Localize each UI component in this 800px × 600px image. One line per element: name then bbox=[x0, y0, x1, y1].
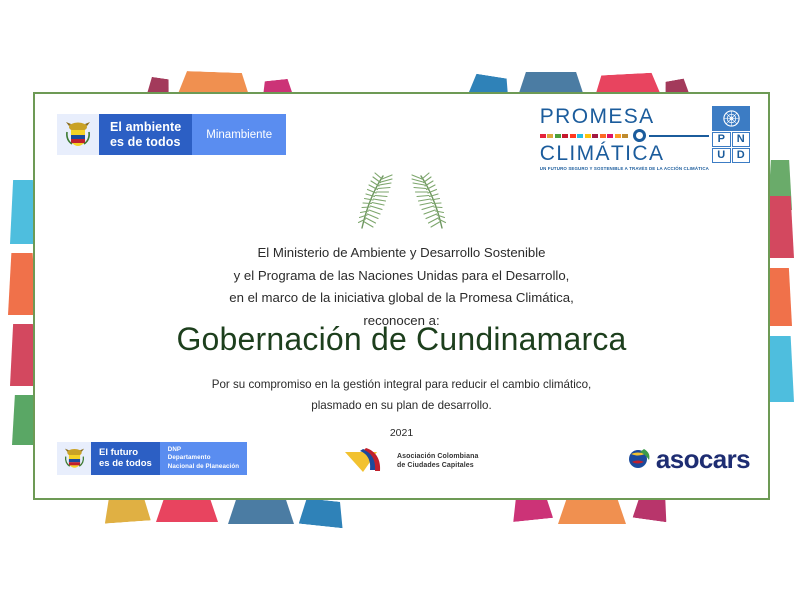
minambiente-logo: El ambiente es de todos Minambiente bbox=[57, 114, 286, 155]
reason-line: Por su compromiso en la gestión integral… bbox=[35, 375, 768, 396]
sdg-dash-8 bbox=[600, 134, 606, 138]
certificate-page: El ambiente es de todos Minambiente PROM… bbox=[0, 0, 800, 600]
asocars-wordmark: asocars bbox=[656, 446, 750, 472]
reason-line: plasmado en su plan de desarrollo. bbox=[35, 396, 768, 417]
intro-line: El Ministerio de Ambiente y Desarrollo S… bbox=[35, 242, 768, 265]
sdg-dash-3 bbox=[562, 134, 568, 138]
dnp-slogan-line2: es de todos bbox=[99, 459, 152, 470]
divider-line bbox=[649, 135, 709, 137]
dnp-entity: DNP Departamento Nacional de Planeación bbox=[160, 442, 247, 475]
minambiente-slogan-line1: El ambiente bbox=[110, 120, 181, 134]
intro-line: en el marco de la iniciativa global de l… bbox=[35, 287, 768, 310]
sdg-dash-1 bbox=[547, 134, 553, 138]
sdg-dash-6 bbox=[585, 134, 591, 138]
petal-bottom-2 bbox=[156, 500, 218, 522]
petal-right-1 bbox=[768, 160, 792, 210]
asocars-globe-icon bbox=[627, 446, 653, 472]
pnud-letter-n: N bbox=[732, 132, 751, 147]
intro-line: y el Programa de las Naciones Unidas par… bbox=[35, 265, 768, 288]
colombia-flag-swoosh-icon bbox=[343, 446, 393, 476]
pnud-letter-p: P bbox=[712, 132, 731, 147]
asocapitales-name-line1: Asociación Colombiana bbox=[397, 452, 478, 461]
petal-bottom-4 bbox=[299, 498, 345, 528]
petal-right-4 bbox=[766, 336, 794, 402]
sdg-dash-0 bbox=[540, 134, 546, 138]
petal-bottom-1 bbox=[103, 496, 151, 523]
sdg-dash-5 bbox=[577, 134, 583, 138]
recipient-name: Gobernación de Cundinamarca bbox=[35, 322, 768, 357]
sdg-wheel-icon bbox=[633, 129, 646, 142]
minambiente-entity: Minambiente bbox=[192, 114, 286, 155]
petal-bottom-6 bbox=[558, 500, 626, 524]
certificate-intro-text: El Ministerio de Ambiente y Desarrollo S… bbox=[35, 242, 768, 333]
pnud-logo: P N U D bbox=[712, 106, 750, 163]
colombia-coat-of-arms-icon bbox=[57, 442, 91, 475]
sdg-color-dashes bbox=[540, 134, 630, 138]
sdg-dash-7 bbox=[592, 134, 598, 138]
pnud-letter-u: U bbox=[712, 148, 731, 163]
sdg-dash-2 bbox=[555, 134, 561, 138]
united-nations-emblem-icon bbox=[712, 106, 750, 131]
dnp-slogan: El futuro es de todos bbox=[91, 442, 160, 475]
dnp-entity-line1: DNP bbox=[168, 446, 239, 454]
asocapitales-logo: Asociación Colombiana de Ciudades Capita… bbox=[343, 446, 478, 476]
palm-frond-icon bbox=[345, 172, 399, 234]
palm-frond-ornament bbox=[35, 172, 768, 234]
promesa-climatica-logo: PROMESA CLIMÁTICA UN FUTURO SEGURO Y SOS… bbox=[540, 106, 750, 171]
petal-bottom-3 bbox=[228, 500, 294, 524]
certificate-year: 2021 bbox=[35, 427, 768, 439]
sdg-dash-4 bbox=[570, 134, 576, 138]
petal-left-2 bbox=[8, 253, 36, 315]
sdg-dash-11 bbox=[622, 134, 628, 138]
petal-right-2 bbox=[766, 196, 794, 258]
sdg-dash-10 bbox=[615, 134, 621, 138]
minambiente-slogan-line2: es de todos bbox=[110, 135, 181, 149]
promesa-word-top: PROMESA bbox=[540, 106, 655, 127]
certificate-reason-text: Por su compromiso en la gestión integral… bbox=[35, 375, 768, 417]
dnp-slogan-line1: El futuro bbox=[99, 448, 152, 459]
certificate-frame: El ambiente es de todos Minambiente PROM… bbox=[33, 92, 770, 500]
minambiente-slogan: El ambiente es de todos bbox=[99, 114, 192, 155]
colombia-coat-of-arms-icon bbox=[57, 114, 99, 155]
asocapitales-name-line2: de Ciudades Capitales bbox=[397, 461, 478, 470]
sdg-dash-9 bbox=[607, 134, 613, 138]
asocars-logo: asocars bbox=[627, 446, 750, 472]
dnp-logo: El futuro es de todos DNP Departamento N… bbox=[57, 442, 247, 475]
dnp-entity-line3: Nacional de Planeación bbox=[168, 463, 239, 471]
promesa-sdg-divider bbox=[540, 129, 709, 142]
pnud-letter-d: D bbox=[732, 148, 751, 163]
promesa-tagline: UN FUTURO SEGURO Y SOSTENIBLE A TRAVÉS D… bbox=[540, 166, 709, 171]
dnp-entity-line2: Departamento bbox=[168, 454, 239, 462]
palm-frond-icon bbox=[405, 172, 459, 234]
promesa-word-bottom: CLIMÁTICA bbox=[540, 143, 665, 164]
